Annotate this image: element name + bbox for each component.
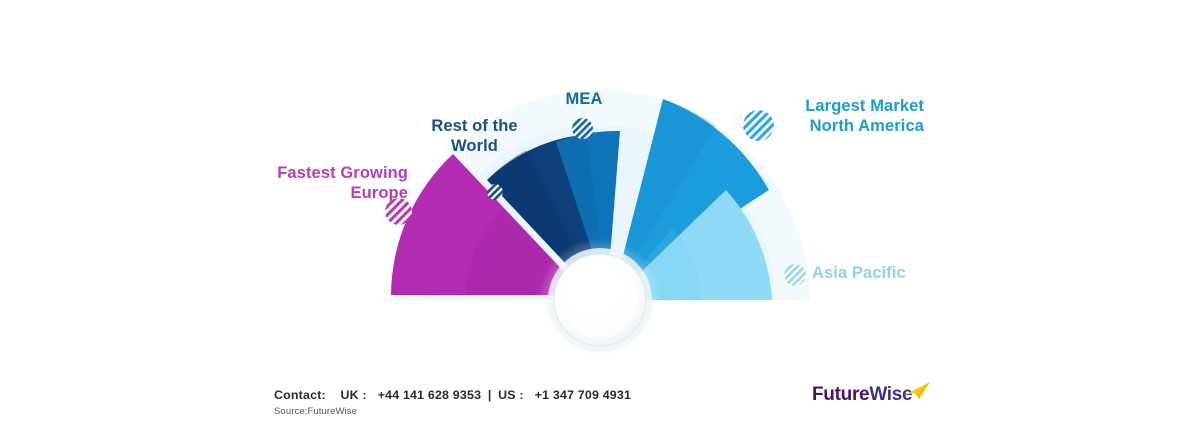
striped-circle-icon-asia-pacific xyxy=(784,264,806,286)
uk-phone[interactable]: +44 141 628 9353 xyxy=(378,388,481,402)
logo-word-future: Future xyxy=(812,384,869,405)
chart-label-europe-line1: Fastest Growing xyxy=(258,163,408,183)
chart-label-asia-pacific-line1: Asia Pacific xyxy=(812,263,906,283)
chart-center-knob xyxy=(538,238,662,362)
chart-label-north-america-line1: Largest Market xyxy=(780,96,924,116)
uk-label: UK : xyxy=(340,388,366,402)
us-label: US : xyxy=(498,388,524,402)
contact-label: Contact: xyxy=(274,388,326,402)
chart-label-europe: Fastest Growing Europe xyxy=(258,163,408,203)
paper-plane-icon xyxy=(902,381,932,403)
us-phone[interactable]: +1 347 709 4931 xyxy=(535,388,631,402)
infographic-canvas: Fastest Growing Europe Rest of the World… xyxy=(0,0,1200,428)
chart-label-north-america: Largest Market North America xyxy=(780,96,924,136)
chart-label-rest-of-world-line1: Rest of the xyxy=(412,116,537,136)
striped-circle-icon-north-america xyxy=(743,110,774,141)
striped-circle-icon-mea xyxy=(572,118,593,139)
semicircle-rose-chart xyxy=(0,0,1200,428)
logo-wordmark: FutureWise xyxy=(812,384,912,406)
striped-circle-icon-europe xyxy=(385,198,412,225)
futurewise-logo[interactable]: FutureWise xyxy=(812,384,932,418)
chart-label-europe-line2: Europe xyxy=(258,183,408,203)
footer: Contact: UK : +44 141 628 9353 | US : +1… xyxy=(0,378,1200,428)
contact-separator: | xyxy=(485,388,495,402)
contact-line: Contact: UK : +44 141 628 9353 | US : +1… xyxy=(274,388,631,402)
chart-label-north-america-line2: North America xyxy=(780,116,924,136)
chart-label-rest-of-world-line2: World xyxy=(412,136,537,156)
chart-label-mea: MEA xyxy=(540,89,628,109)
chart-label-asia-pacific: Asia Pacific xyxy=(812,263,906,283)
chart-label-mea-line1: MEA xyxy=(540,89,628,109)
striped-circle-icon-rest-of-world xyxy=(487,184,503,200)
source-line: Source:FutureWise xyxy=(274,406,357,417)
chart-label-rest-of-world: Rest of the World xyxy=(412,116,537,156)
